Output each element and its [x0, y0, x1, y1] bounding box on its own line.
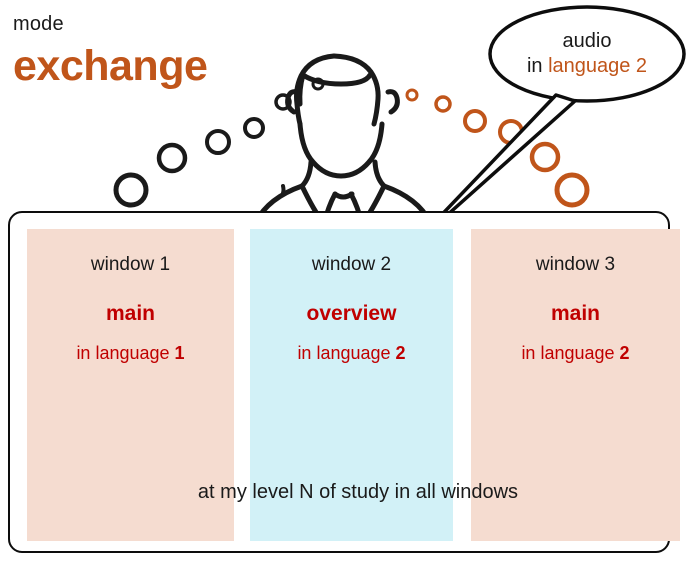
- window-3-language: in language 2: [471, 343, 680, 365]
- mode-value: exchange: [13, 42, 207, 91]
- window-3-language-number: 2: [620, 343, 630, 363]
- window-1-language: in language 1: [27, 343, 234, 365]
- bubble-line-2: in language 2: [527, 55, 647, 78]
- diagram-canvas: mode exchange: [0, 0, 694, 564]
- bubble-line-2-accent: language 2: [548, 55, 647, 77]
- windows-row: window 1 main in language 1 window 2 ove…: [27, 229, 655, 541]
- window-1-language-prefix: in language: [76, 343, 174, 363]
- bubble-line-2-prefix: in: [527, 55, 548, 77]
- black-thought-bubbles: [116, 79, 323, 205]
- window-3-kind: main: [471, 301, 680, 326]
- orange-thought-bubbles: [407, 90, 587, 205]
- window-3-title: window 3: [471, 254, 680, 277]
- audio-bubble[interactable]: audio in language 2: [487, 6, 687, 102]
- window-2-kind: overview: [250, 301, 453, 326]
- window-2-language: in language 2: [250, 343, 453, 365]
- windows-container: window 1 main in language 1 window 2 ove…: [8, 211, 670, 553]
- window-2-language-number: 2: [396, 343, 406, 363]
- bubble-line-1: audio: [563, 30, 612, 53]
- window-1-title: window 1: [27, 254, 234, 277]
- window-1-language-number: 1: [175, 343, 185, 363]
- window-2-title: window 2: [250, 254, 453, 277]
- window-3-language-prefix: in language: [521, 343, 619, 363]
- window-2-language-prefix: in language: [297, 343, 395, 363]
- mode-label: mode: [13, 13, 64, 36]
- window-1-kind: main: [27, 301, 234, 326]
- footer-note: at my level N of study in all windows: [44, 481, 672, 504]
